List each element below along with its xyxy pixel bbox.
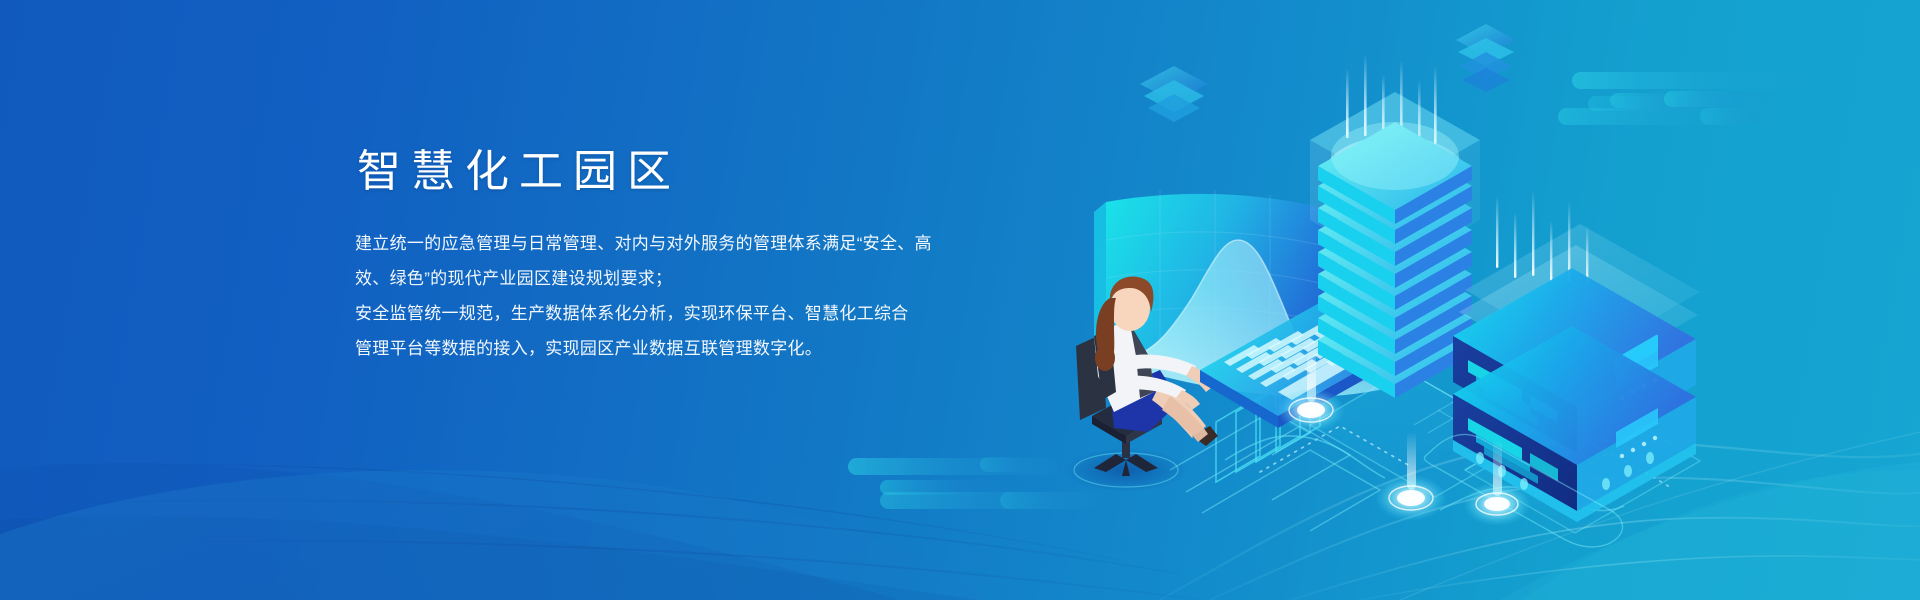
cube-icon-right <box>1456 24 1516 92</box>
hero-description: 建立统一的应急管理与日常管理、对内与对外服务的管理体系满足“安全、高 效、绿色”… <box>355 196 975 366</box>
description-line: 建立统一的应急管理与日常管理、对内与对外服务的管理体系满足“安全、高 <box>355 226 975 261</box>
bottom-left-wash <box>0 464 900 600</box>
description-line: 安全监管统一规范，生产数据体系化分析，实现环保平台、智慧化工综合 <box>355 296 975 331</box>
cube-icon-left <box>1140 66 1208 122</box>
hero-illustration <box>1010 40 1710 570</box>
wave-line-dark-3 <box>0 464 1120 560</box>
wave-line-dark-1 <box>0 500 1180 574</box>
page-title: 智慧化工园区 <box>355 148 975 196</box>
hero-copy: 智慧化工园区 建立统一的应急管理与日常管理、对内与对外服务的管理体系满足“安全、… <box>355 148 975 366</box>
bottom-left-wash-2 <box>0 516 980 600</box>
hero-banner: 智慧化工园区 建立统一的应急管理与日常管理、对内与对外服务的管理体系满足“安全、… <box>0 0 1920 600</box>
bg-blob <box>0 470 1050 600</box>
floating-cube-icons <box>1140 24 1516 122</box>
description-line: 管理平台等数据的接入，实现园区产业数据互联管理数字化。 <box>355 331 975 366</box>
description-line: 效、绿色”的现代产业园区建设规划要求； <box>355 261 975 296</box>
tower-cap-overlay <box>1331 122 1459 190</box>
figure-ponytail-end <box>1095 345 1115 371</box>
